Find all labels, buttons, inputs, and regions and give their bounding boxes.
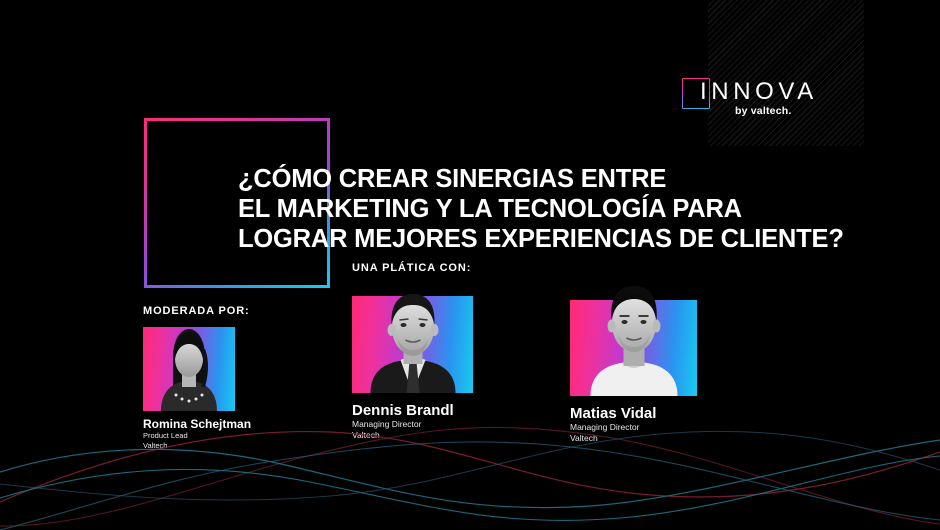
title-line-1: ¿CÓMO CREAR SINERGIAS ENTRE <box>238 164 838 194</box>
presentation-slide: INNOVA by valtech. ¿CÓMO CREAR SINERGIAS… <box>0 0 940 530</box>
moderator-card: Romina Schejtman Product Lead Valtech <box>143 327 251 450</box>
speaker-photo-dennis <box>352 296 473 393</box>
page-title: ¿CÓMO CREAR SINERGIAS ENTRE EL MARKETING… <box>238 164 838 254</box>
portrait-dennis <box>352 280 473 393</box>
speaker-role: Managing Director <box>352 419 473 430</box>
moderator-name: Romina Schejtman <box>143 418 251 431</box>
wave-line-teal-2 <box>0 456 940 520</box>
wave-line-teal-1 <box>0 440 940 508</box>
logo-byline: by valtech. <box>735 106 791 117</box>
title-line-2: EL MARKETING Y LA TECNOLOGÍA PARA <box>238 194 838 224</box>
speaker-role: Managing Director <box>570 422 697 433</box>
wave-line-blue-1 <box>0 442 940 530</box>
wave-line-crimson-1 <box>0 432 940 502</box>
innova-logo: INNOVA by valtech. <box>680 70 860 128</box>
speaker-card-dennis: Dennis Brandl Managing Director Valtech <box>352 296 473 441</box>
logo-wordmark: INNOVA <box>700 80 818 104</box>
moderator-photo <box>143 327 235 411</box>
speaker-name: Matias Vidal <box>570 406 697 422</box>
speakers-section-label: UNA PLÁTICA CON: <box>352 262 471 274</box>
moderator-company: Valtech <box>143 441 251 451</box>
portrait-romina <box>143 315 235 411</box>
wave-line-blue-2 <box>0 431 940 500</box>
moderator-role: Product Lead <box>143 431 251 441</box>
wave-line-crimson-2 <box>0 427 940 526</box>
speaker-company: Valtech <box>570 433 697 444</box>
speaker-card-matias: Matias Vidal Managing Director Valtech <box>570 300 697 444</box>
speaker-company: Valtech <box>352 430 473 441</box>
title-line-3: LOGRAR MEJORES EXPERIENCIAS DE CLIENTE? <box>238 224 838 254</box>
portrait-matias <box>570 278 697 396</box>
speaker-name: Dennis Brandl <box>352 403 473 419</box>
speaker-photo-matias <box>570 300 697 396</box>
